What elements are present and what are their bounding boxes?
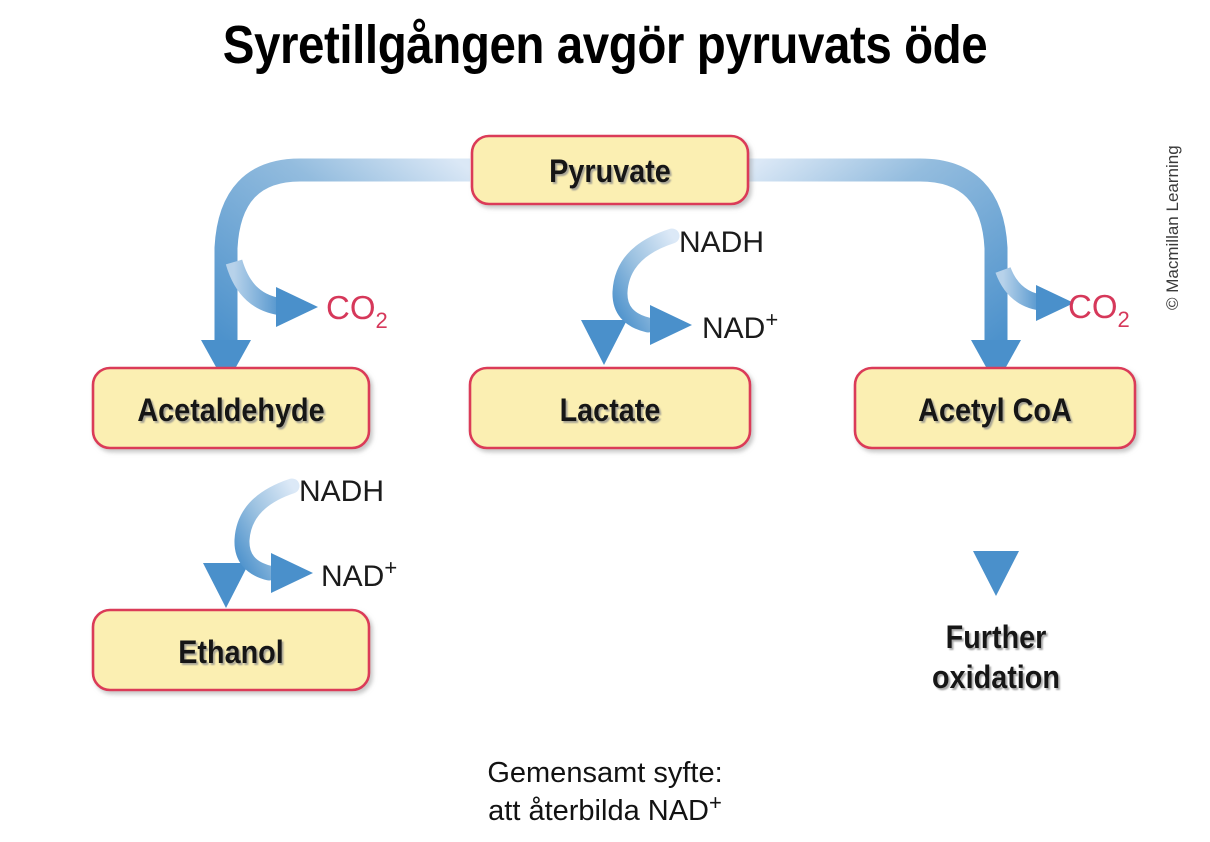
node-ethanol-label: Ethanol: [178, 635, 284, 671]
node-lactate[interactable]: Lactate: [470, 368, 750, 448]
nad-left-label: NAD+: [321, 555, 397, 593]
arrow-pyruvate-to-acetyl-coa: [748, 170, 1021, 385]
caption-line-2: att återbilda NAD+: [488, 790, 722, 827]
copyright-credit: © Macmillan Learning: [1163, 145, 1182, 310]
terminal-further-oxidation: Further oxidation: [932, 620, 1060, 696]
node-pyruvate-label: Pyruvate: [549, 154, 671, 190]
caption-line-1: Gemensamt syfte:: [487, 757, 722, 789]
arrow-co2-right: [1003, 270, 1074, 321]
nadh-middle-label: NADH: [679, 226, 764, 259]
node-acetaldehyde-label: Acetaldehyde: [137, 393, 324, 429]
node-acetyl-coa[interactable]: Acetyl CoA: [855, 368, 1135, 448]
caption: Gemensamt syfte: att återbilda NAD+: [487, 757, 722, 827]
arrow-co2-left: [234, 262, 318, 327]
node-acetyl-coa-label: Acetyl CoA: [918, 393, 1072, 429]
pyruvate-fate-diagram: CO2 NADH NAD+ CO2 NADH NAD+ Pyruva: [0, 0, 1210, 842]
co2-right-label: CO2: [1068, 288, 1130, 332]
further-oxidation-line2: oxidation: [932, 660, 1060, 696]
nad-middle-label: NAD+: [702, 307, 778, 345]
co2-left-label: CO2: [326, 289, 388, 333]
node-pyruvate[interactable]: Pyruvate: [472, 136, 748, 204]
node-lactate-label: Lactate: [560, 393, 661, 429]
node-acetaldehyde[interactable]: Acetaldehyde: [93, 368, 369, 448]
arrow-acetyl-coa-to-further-oxidation: [973, 448, 1019, 596]
node-ethanol[interactable]: Ethanol: [93, 610, 369, 690]
nadh-left-label: NADH: [299, 475, 384, 508]
further-oxidation-line1: Further: [946, 620, 1047, 656]
